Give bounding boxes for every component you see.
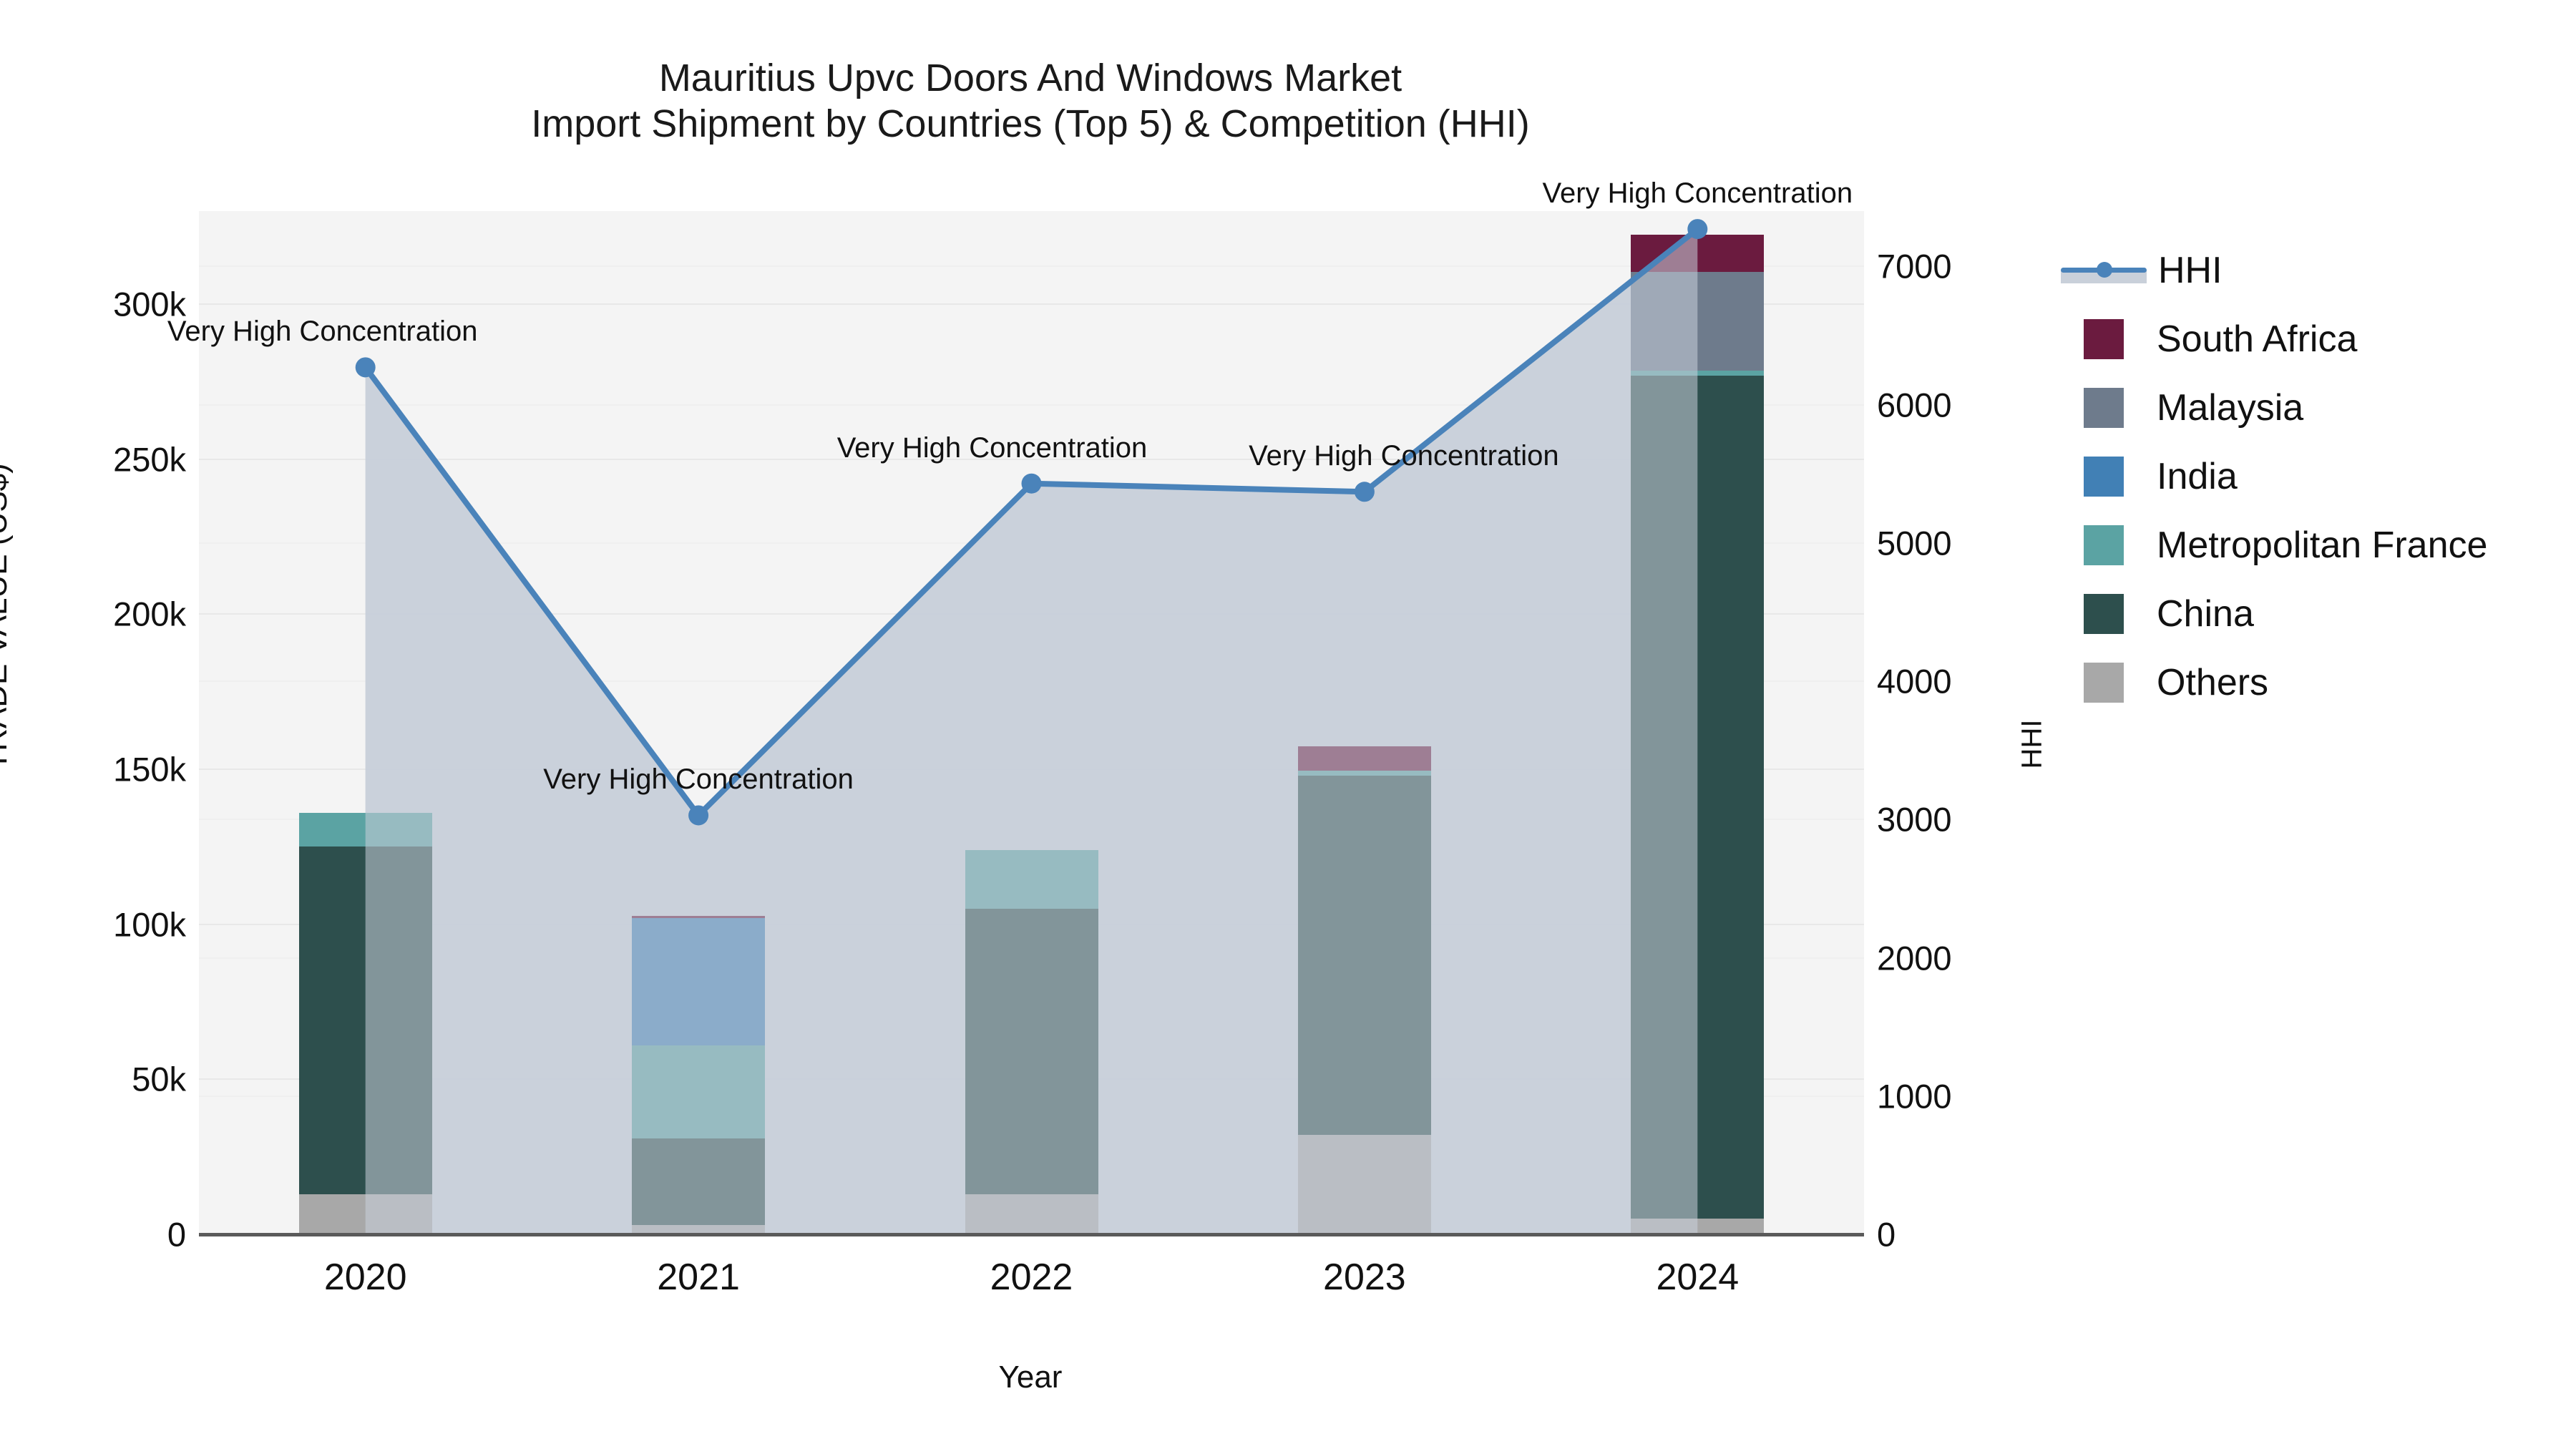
legend-line-marker-icon <box>2061 250 2147 291</box>
stacked-bar[interactable] <box>965 850 1098 1234</box>
chart-legend: HHISouth AfricaMalaysiaIndiaMetropolitan… <box>2061 236 2562 717</box>
y-axis-right-tick-label: 7000 <box>1877 247 1952 286</box>
legend-item[interactable]: Metropolitan France <box>2061 511 2562 580</box>
x-axis-tick-label: 2020 <box>324 1256 407 1299</box>
legend-item-label: Others <box>2157 661 2268 704</box>
bar-segment[interactable] <box>965 850 1098 909</box>
legend-color-swatch-icon <box>2084 388 2124 428</box>
concentration-annotation: Very High Concentration <box>837 432 1148 464</box>
legend-item[interactable]: South Africa <box>2061 305 2562 374</box>
x-axis-tick-label: 2023 <box>1323 1256 1406 1299</box>
y-axis-left-tick-label: 150k <box>113 750 186 789</box>
y-axis-right-tick-label: 2000 <box>1877 938 1952 977</box>
bar-segment[interactable] <box>965 909 1098 1194</box>
legend-item[interactable]: Malaysia <box>2061 374 2562 442</box>
legend-item-label: Malaysia <box>2157 386 2303 429</box>
legend-item[interactable]: HHI <box>2061 236 2562 305</box>
chart-root: Mauritius Upvc Doors And Windows Market … <box>0 0 2576 1449</box>
legend-item-label: Metropolitan France <box>2157 524 2487 567</box>
legend-color-swatch-icon <box>2084 319 2124 359</box>
legend-color-swatch-icon <box>2084 525 2124 565</box>
chart-title: Mauritius Upvc Doors And Windows Market … <box>0 56 2061 147</box>
legend-item-label: South Africa <box>2157 318 2357 361</box>
y-axis-right-tick-label: 4000 <box>1877 662 1952 701</box>
bar-segment[interactable] <box>632 918 765 1045</box>
legend-marker-dot <box>2097 262 2112 278</box>
bar-segment[interactable] <box>299 813 432 847</box>
legend-color-swatch-icon <box>2084 663 2124 703</box>
concentration-annotation: Very High Concentration <box>1249 440 1559 472</box>
legend-item-label: India <box>2157 455 2238 498</box>
bar-segment[interactable] <box>1631 1219 1764 1234</box>
x-axis-tick-label: 2022 <box>990 1256 1073 1299</box>
legend-color-swatch-icon <box>2084 594 2124 634</box>
legend-item-label: China <box>2157 592 2254 635</box>
bar-segment[interactable] <box>632 1138 765 1225</box>
stacked-bar[interactable] <box>1631 235 1764 1235</box>
y-axis-right-tick-label: 6000 <box>1877 385 1952 424</box>
y-axis-right-label: HHI <box>2016 720 2049 769</box>
chart-title-line2: Import Shipment by Countries (Top 5) & C… <box>0 102 2061 147</box>
bar-segment[interactable] <box>1298 776 1431 1136</box>
y-axis-left-label: TRADE VALUE (US$) <box>0 463 14 771</box>
y-axis-left-tick-label: 200k <box>113 595 186 634</box>
plot-clip <box>199 211 1864 1234</box>
concentration-annotation: Very High Concentration <box>543 763 854 796</box>
legend-item[interactable]: China <box>2061 580 2562 648</box>
y-axis-left-tick-label: 100k <box>113 904 186 944</box>
bar-segment[interactable] <box>299 847 432 1194</box>
y-axis-right-tick-label: 1000 <box>1877 1076 1952 1116</box>
y-axis-left-tick-label: 0 <box>167 1215 186 1254</box>
plot-area <box>199 211 1864 1234</box>
bar-segment[interactable] <box>965 1194 1098 1234</box>
x-axis-tick-label: 2024 <box>1656 1256 1739 1299</box>
bar-segment[interactable] <box>1631 376 1764 1219</box>
x-axis-line <box>199 1233 1864 1236</box>
bar-segment[interactable] <box>1631 272 1764 371</box>
legend-item-label: HHI <box>2158 249 2223 292</box>
y-axis-left-tick-label: 250k <box>113 439 186 479</box>
bar-segment[interactable] <box>1298 746 1431 771</box>
concentration-annotation: Very High Concentration <box>1543 177 1853 210</box>
bar-segment[interactable] <box>299 1194 432 1234</box>
bar-segment[interactable] <box>1298 771 1431 776</box>
y-axis-right-tick-label: 0 <box>1877 1215 1896 1254</box>
concentration-annotation: Very High Concentration <box>167 316 478 348</box>
x-axis-label: Year <box>0 1360 2061 1395</box>
legend-item[interactable]: Others <box>2061 648 2562 717</box>
bar-segment[interactable] <box>632 1045 765 1138</box>
y-axis-right-tick-label: 5000 <box>1877 523 1952 562</box>
legend-color-swatch-icon <box>2084 457 2124 497</box>
stacked-bar[interactable] <box>632 916 765 1234</box>
x-axis-tick-label: 2021 <box>657 1256 740 1299</box>
legend-item[interactable]: India <box>2061 442 2562 511</box>
chart-title-line1: Mauritius Upvc Doors And Windows Market <box>0 56 2061 102</box>
bar-segment[interactable] <box>632 916 765 918</box>
y-axis-right-tick-label: 3000 <box>1877 800 1952 839</box>
stacked-bar[interactable] <box>299 813 432 1234</box>
bar-segment[interactable] <box>1631 371 1764 376</box>
stacked-bar[interactable] <box>1298 746 1431 1235</box>
y-axis-left-tick-label: 50k <box>132 1060 186 1099</box>
bar-segment[interactable] <box>1631 235 1764 272</box>
bar-segment[interactable] <box>1298 1135 1431 1234</box>
